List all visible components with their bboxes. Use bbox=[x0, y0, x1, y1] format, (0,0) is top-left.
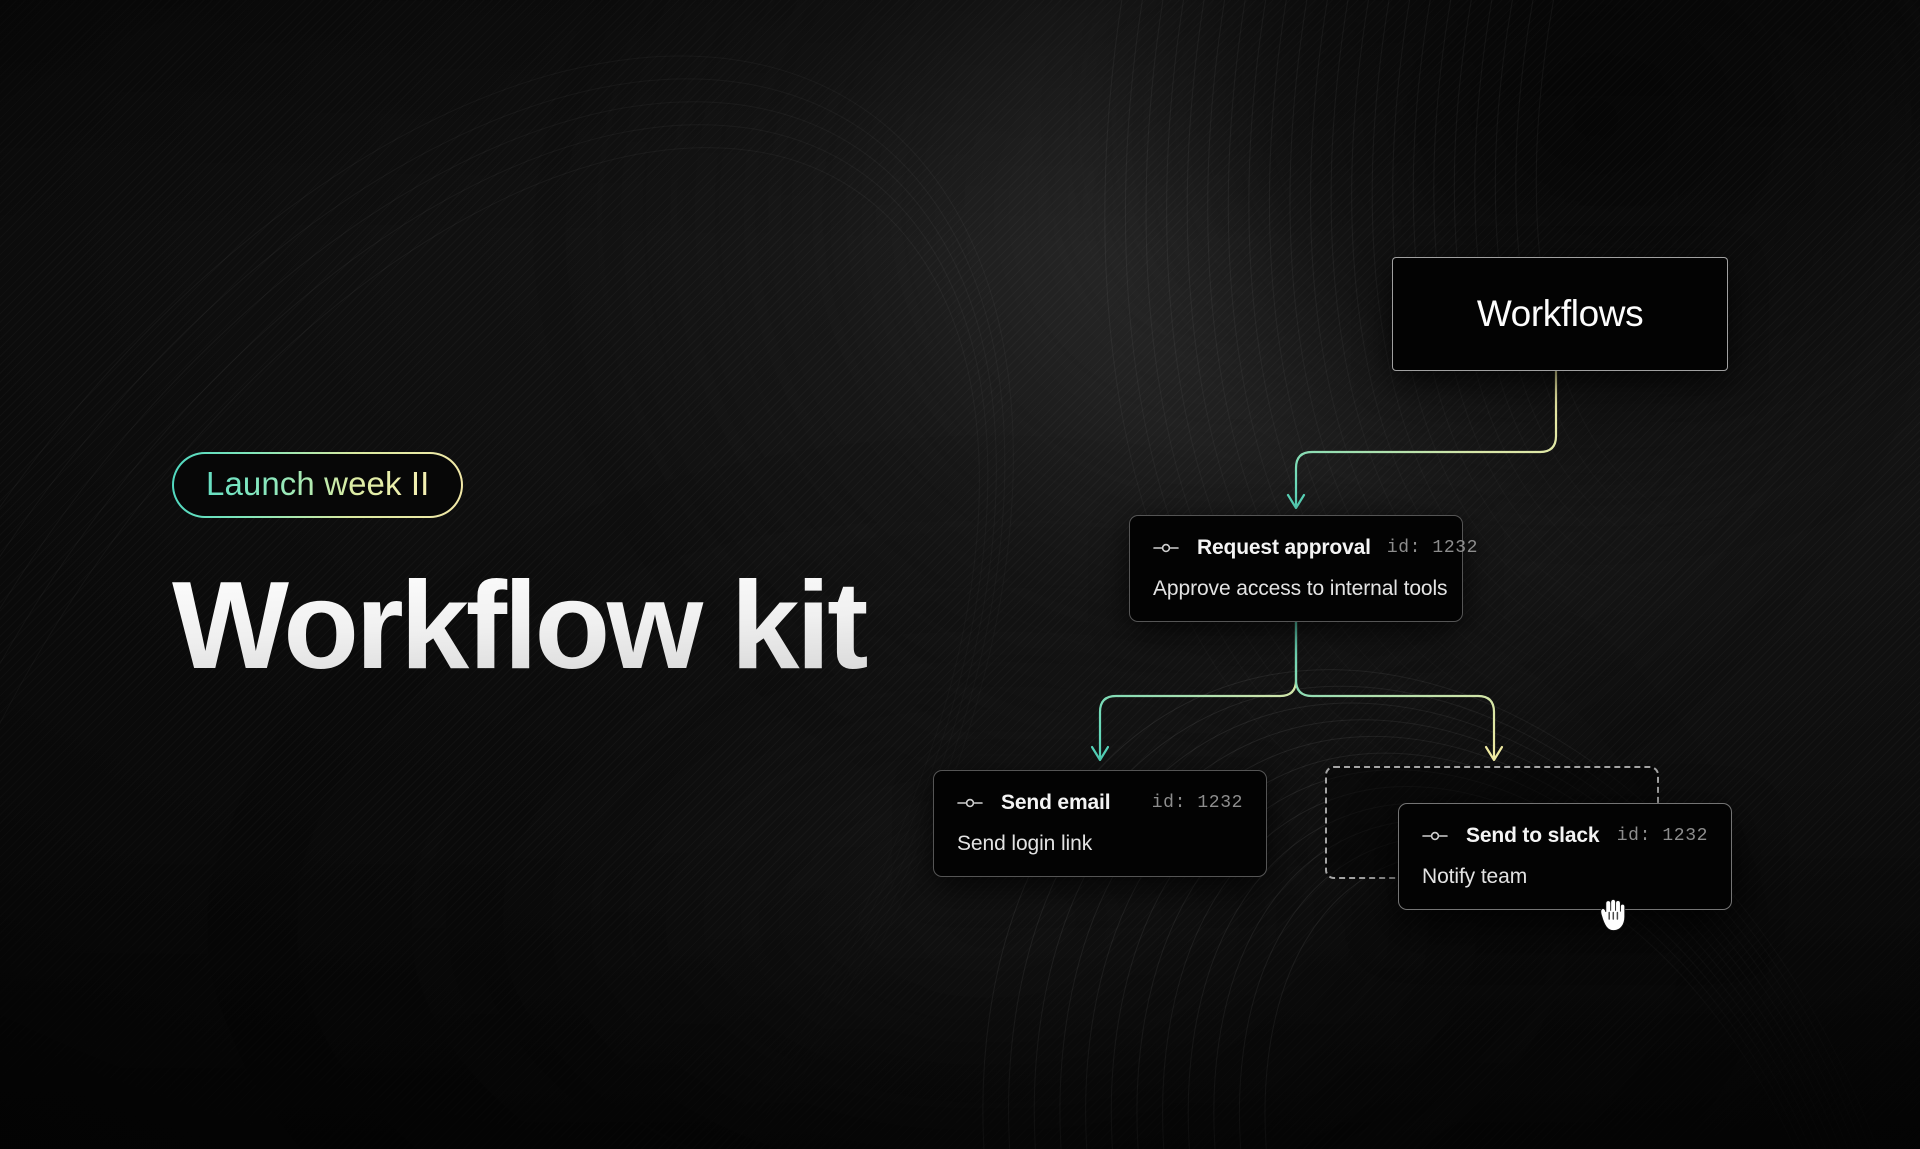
workflow-edges bbox=[0, 0, 1920, 1149]
node-send-email[interactable]: Send email id: 1232 Send login link bbox=[933, 770, 1267, 877]
node-request-approval-id: id: 1232 bbox=[1387, 538, 1478, 558]
node-send-to-slack-subtitle: Notify team bbox=[1422, 865, 1708, 889]
node-connector-icon bbox=[1153, 542, 1179, 554]
node-send-email-title: Send email bbox=[1001, 791, 1110, 815]
node-connector-icon bbox=[1422, 830, 1448, 842]
node-send-email-header: Send email id: 1232 bbox=[957, 790, 1243, 816]
node-send-email-id: id: 1232 bbox=[1152, 793, 1243, 813]
workflow-kit-hero: Launch week II Workflow kit bbox=[0, 0, 1920, 1149]
node-send-to-slack-id: id: 1232 bbox=[1617, 826, 1708, 846]
node-send-to-slack-title: Send to slack bbox=[1466, 824, 1599, 848]
node-workflows-label: Workflows bbox=[1477, 293, 1643, 335]
node-send-to-slack[interactable]: Send to slack id: 1232 Notify team bbox=[1398, 803, 1732, 910]
node-request-approval[interactable]: Request approval id: 1232 Approve access… bbox=[1129, 515, 1463, 622]
node-workflows[interactable]: Workflows bbox=[1392, 257, 1728, 371]
workflow-graph: Workflows Request approval id: 1232 Appr… bbox=[0, 0, 1920, 1149]
node-send-to-slack-header: Send to slack id: 1232 bbox=[1422, 823, 1708, 849]
node-request-approval-header: Request approval id: 1232 bbox=[1153, 535, 1439, 561]
node-connector-icon bbox=[957, 797, 983, 809]
node-request-approval-title: Request approval bbox=[1197, 536, 1371, 560]
node-request-approval-subtitle: Approve access to internal tools bbox=[1153, 577, 1439, 601]
node-send-email-subtitle: Send login link bbox=[957, 832, 1243, 856]
